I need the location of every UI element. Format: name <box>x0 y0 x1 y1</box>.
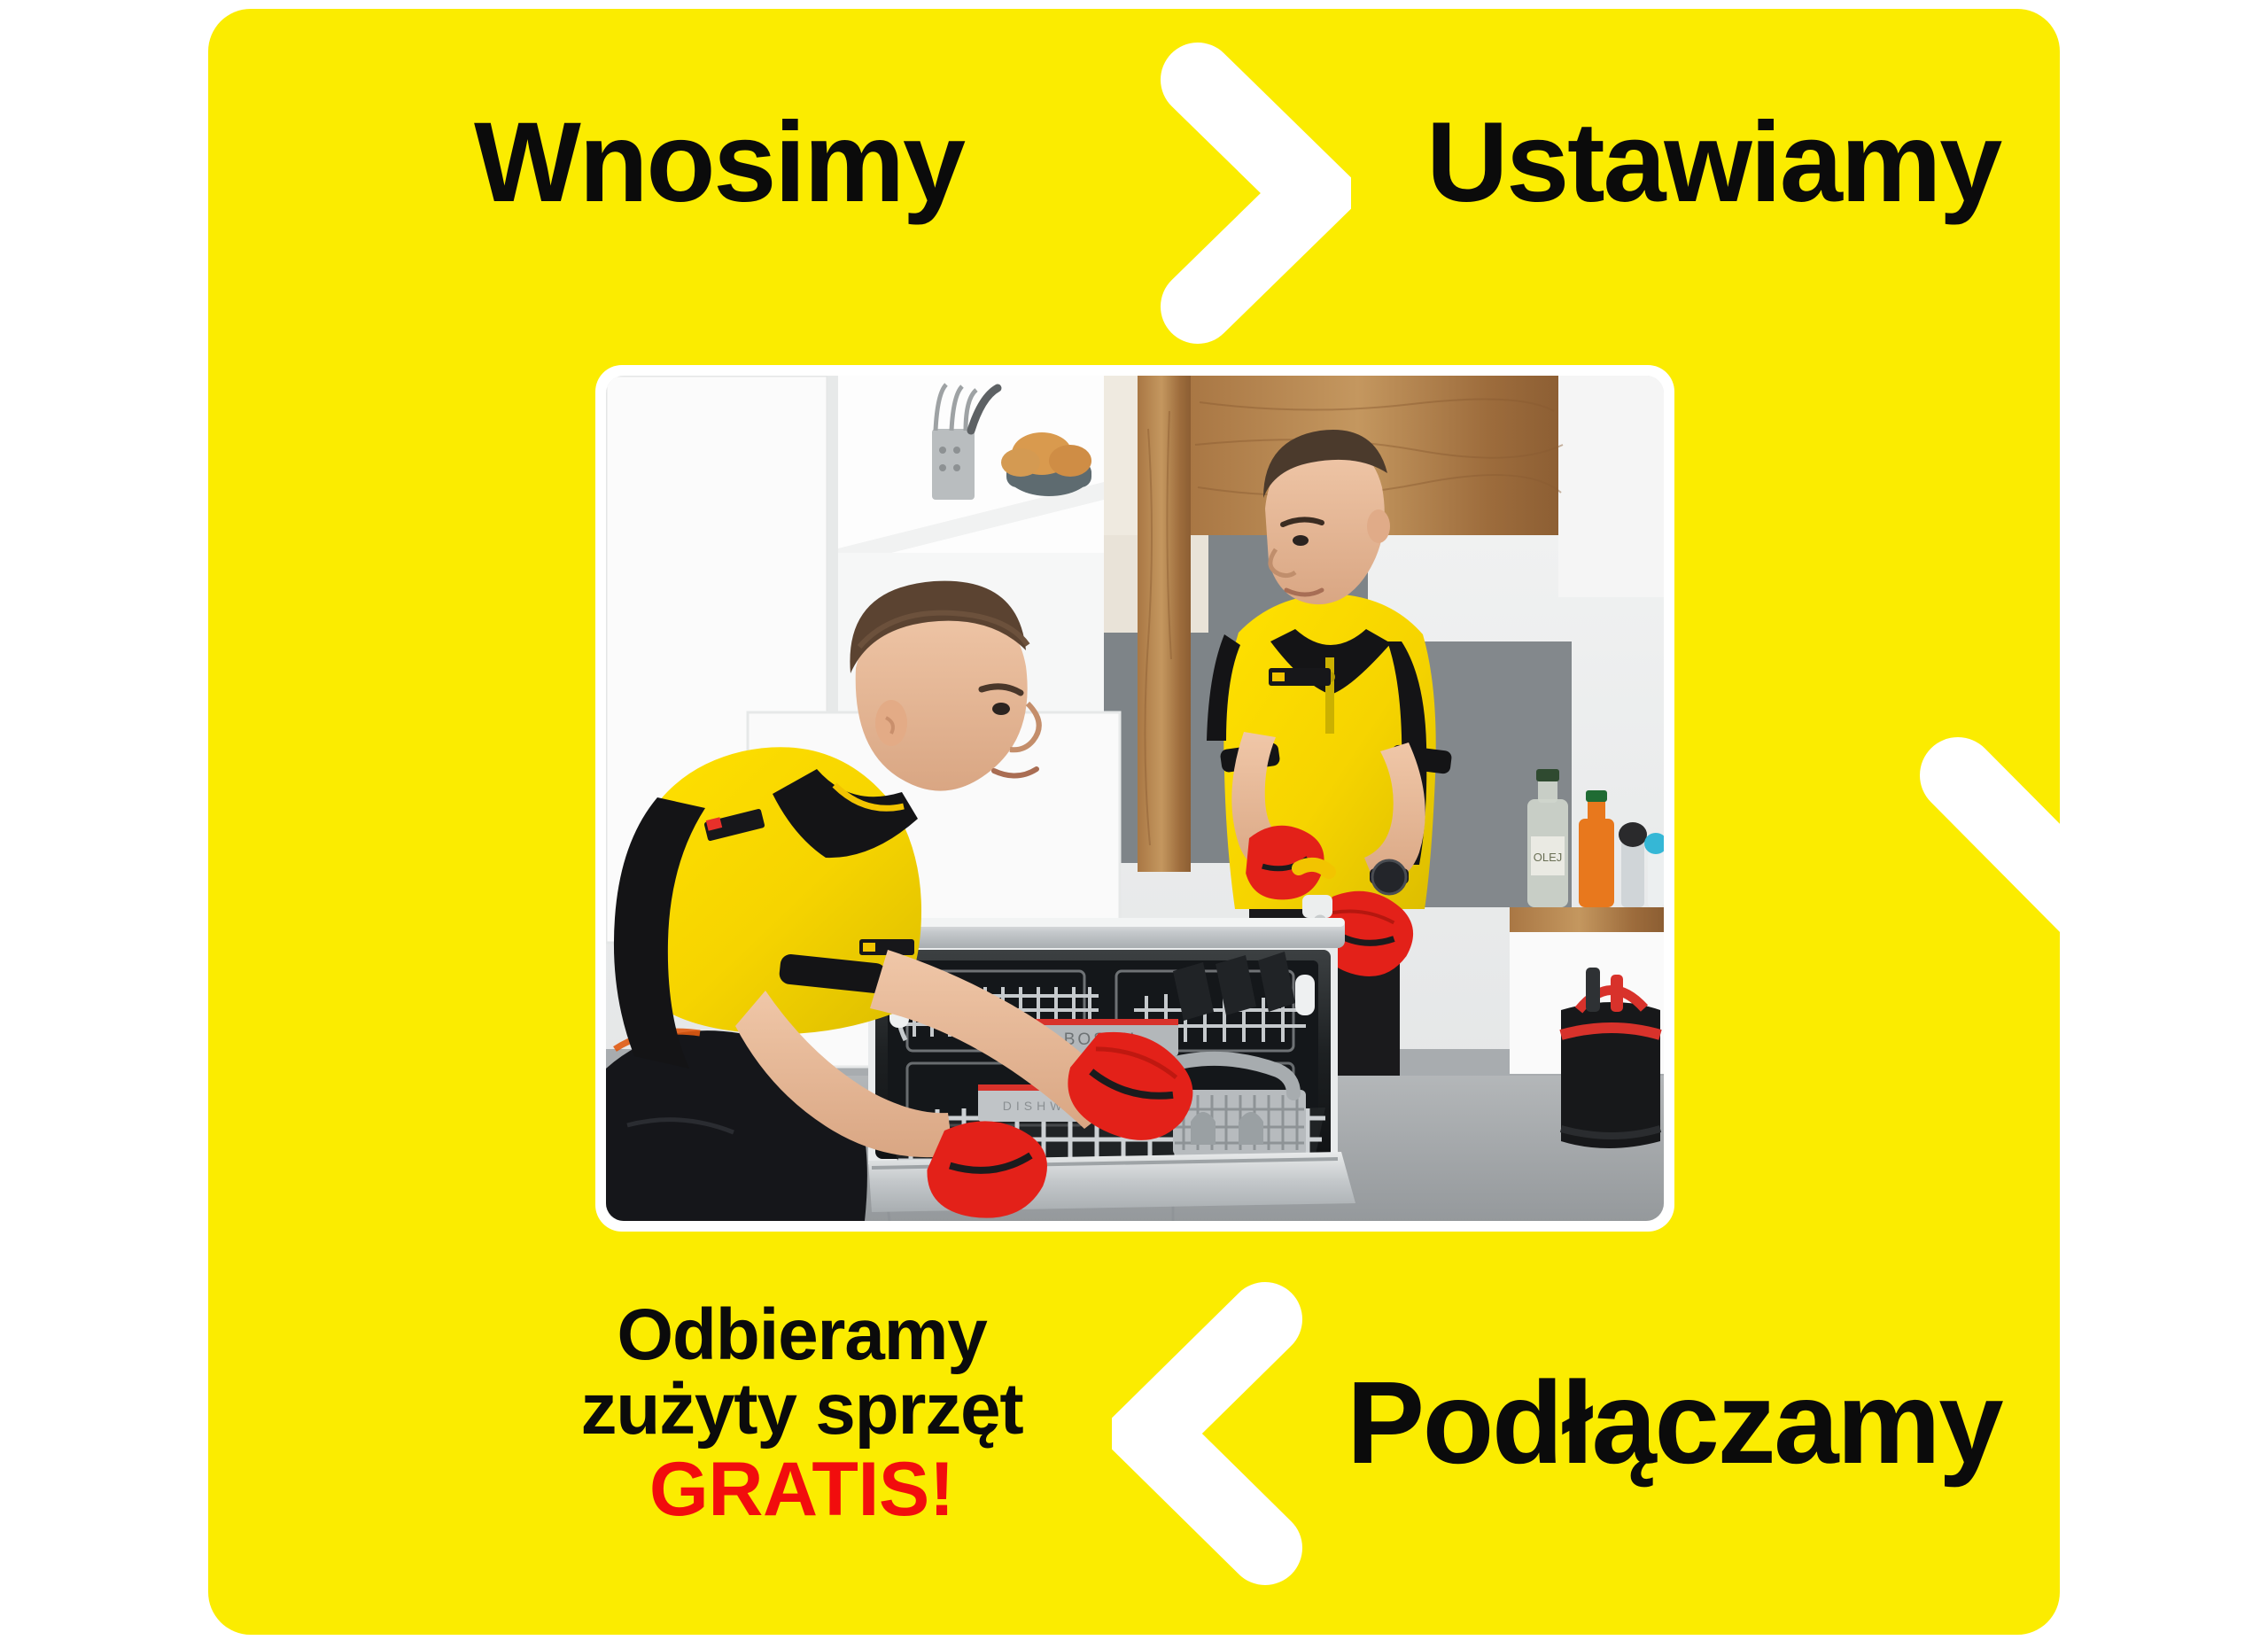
chevron-left-icon <box>1112 1280 1302 1586</box>
pickup-line-2: zużyty sprzęt <box>474 1372 1130 1447</box>
installation-photo-card: OLEJ <box>595 365 1674 1232</box>
pickup-free-badge: GRATIS! <box>474 1451 1130 1529</box>
svg-text:OLEJ: OLEJ <box>1534 851 1563 864</box>
pickup-line-1: Odbieramy <box>474 1298 1130 1372</box>
installation-photo: OLEJ <box>606 376 1664 1221</box>
headline-step3: Podłączamy <box>1347 1364 2001 1481</box>
pickup-text-block: Odbieramy zużyty sprzęt GRATIS! <box>474 1298 1130 1529</box>
headline-step1: Wnosimy <box>474 106 964 220</box>
headline-step2: Ustawiamy <box>1426 106 2000 220</box>
chevron-right-icon <box>1161 43 1351 344</box>
chevron-down-icon <box>1918 735 2228 939</box>
